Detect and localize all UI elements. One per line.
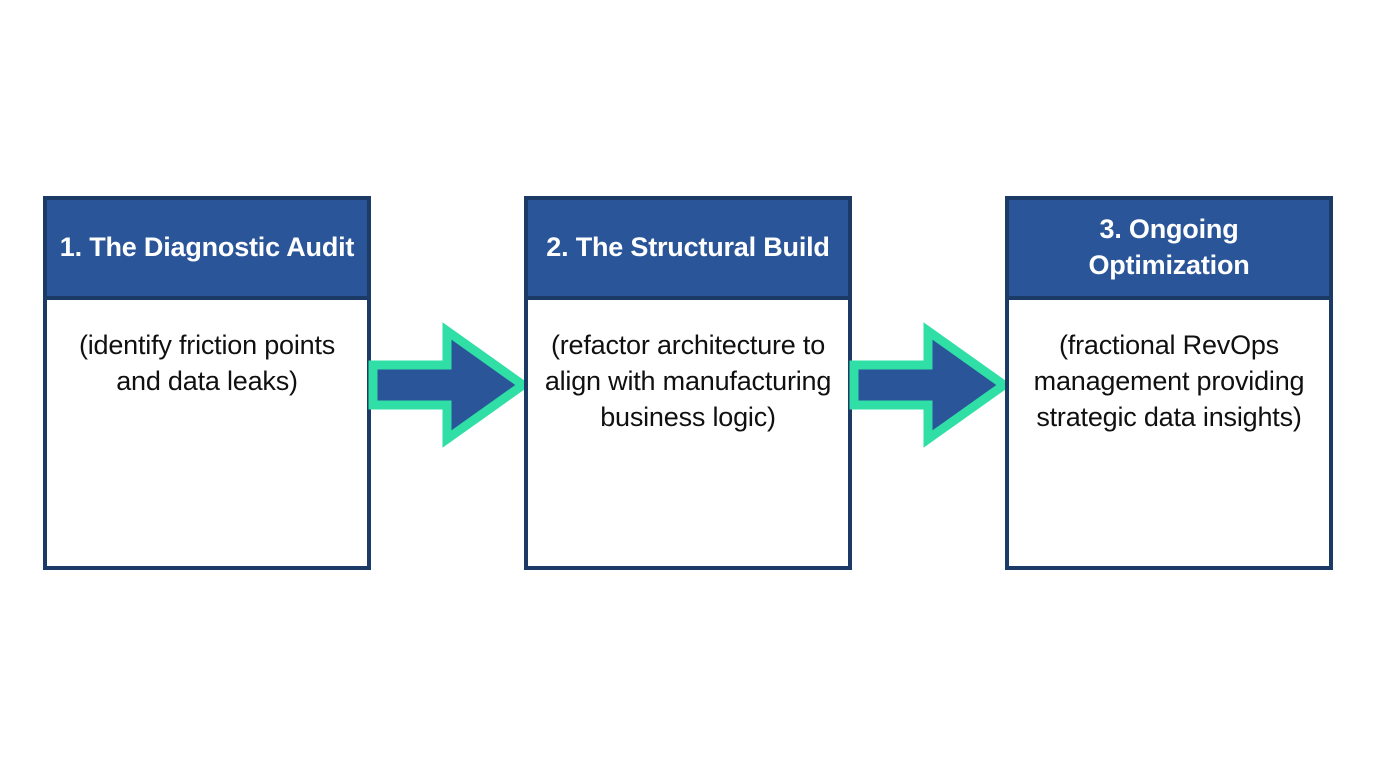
process-step-1-body: (identify friction points and data leaks… xyxy=(47,300,367,566)
process-step-3-title: 3. Ongoing Optimization xyxy=(1009,200,1329,300)
flow-arrow-right-icon xyxy=(848,322,1010,448)
process-step-3-body: (fractional RevOps management providing … xyxy=(1009,300,1329,566)
flow-arrow-right-icon xyxy=(367,322,529,448)
process-step-2-body: (refactor architecture to align with man… xyxy=(528,300,848,566)
process-step-2: 2. The Structural Build (refactor archit… xyxy=(524,196,852,570)
process-flow-diagram: 1. The Diagnostic Audit (identify fricti… xyxy=(0,0,1376,768)
process-step-1: 1. The Diagnostic Audit (identify fricti… xyxy=(43,196,371,570)
process-step-3: 3. Ongoing Optimization (fractional RevO… xyxy=(1005,196,1333,570)
process-step-1-title: 1. The Diagnostic Audit xyxy=(47,200,367,300)
process-step-2-title: 2. The Structural Build xyxy=(528,200,848,300)
